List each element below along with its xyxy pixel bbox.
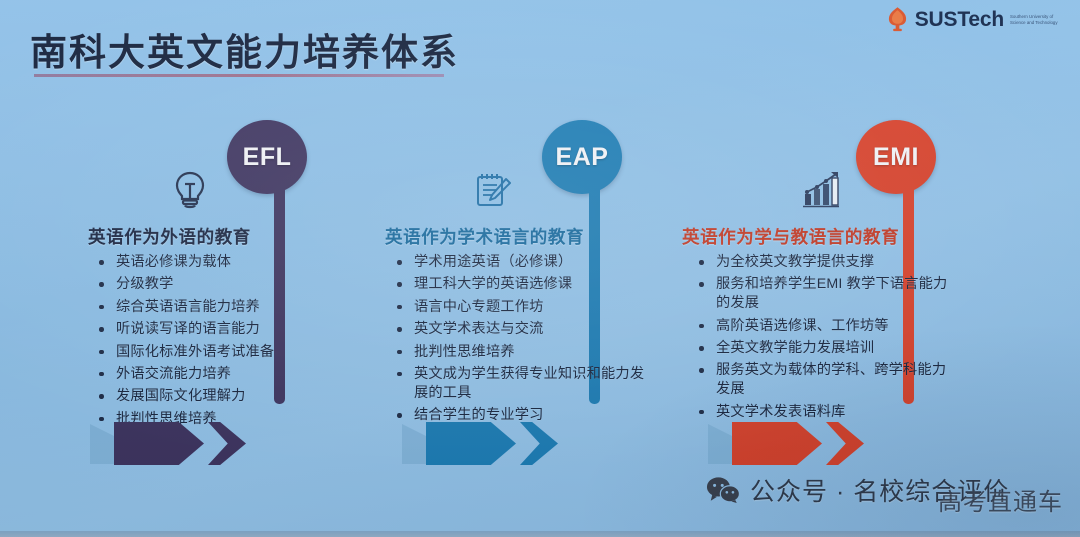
- heading-efl: 英语作为外语的教育: [88, 224, 388, 249]
- arrow-body: [732, 422, 822, 465]
- list-item: 国际化标准外语考试准备: [96, 343, 348, 362]
- arrow-graphic-eap: [402, 416, 592, 470]
- heading-eap: 英语作为学术语言的教育: [385, 224, 685, 249]
- bar-chart-growth-icon: [798, 168, 842, 212]
- list-item: 理工科大学的英语选修课: [394, 275, 646, 294]
- arrow-graphic-efl: [90, 416, 280, 470]
- sustech-subtext: Southern University of Science and Techn…: [1010, 14, 1068, 26]
- arrow-graphic-emi: [708, 416, 898, 470]
- title-underline: [34, 74, 444, 77]
- badge-efl: EFL: [227, 120, 307, 194]
- list-item: 发展国际文化理解力: [96, 387, 348, 406]
- badge-emi: EMI: [856, 120, 936, 194]
- lightbulb-icon: [168, 168, 212, 212]
- list-item: 高阶英语选修课、工作坊等: [696, 317, 948, 336]
- list-item: 综合英语语言能力培养: [96, 298, 348, 317]
- arrow-body: [114, 422, 204, 465]
- list-item: 为全校英文教学提供支撑: [696, 253, 948, 272]
- arrow-chevron: [826, 422, 864, 465]
- page-title: 南科大英文能力培养体系: [30, 22, 459, 76]
- list-item: 服务英文为载体的学科、跨学科能力发展: [696, 361, 948, 399]
- bullet-list-efl: 英语必修课为载体 分级教学 综合英语语言能力培养 听说读写译的语言能力 国际化标…: [96, 253, 348, 432]
- heading-emi: 英语作为学与教语言的教育: [682, 224, 982, 249]
- bullet-list-eap: 学术用途英语（必修课） 理工科大学的英语选修课 语言中心专题工作坊 英文学术表达…: [394, 253, 646, 429]
- arrow-chevron: [208, 422, 246, 465]
- list-item: 学术用途英语（必修课）: [394, 253, 646, 272]
- list-item: 英文成为学生获得专业知识和能力发展的工具: [394, 365, 646, 403]
- watermark-text: 高考直通车: [938, 482, 1063, 517]
- list-item: 服务和培养学生EMI 教学下语言能力的发展: [696, 275, 948, 313]
- list-item: 英语必修课为载体: [96, 253, 348, 272]
- bullet-list-emi: 为全校英文教学提供支撑 服务和培养学生EMI 教学下语言能力的发展 高阶英语选修…: [696, 253, 948, 425]
- sustech-flame-icon: [885, 6, 910, 33]
- arrow-chevron: [520, 422, 558, 465]
- sustech-logo: SUSTech Southern University of Science a…: [885, 6, 1068, 33]
- badge-eap: EAP: [542, 120, 622, 194]
- notepad-pencil-icon: [470, 168, 514, 212]
- sustech-wordmark-tail: ech: [968, 8, 1004, 31]
- slide-canvas: 南科大英文能力培养体系 SUSTech Southern University …: [0, 0, 1080, 537]
- sustech-wordmark: SUSTech: [915, 9, 1004, 30]
- list-item: 外语交流能力培养: [96, 365, 348, 384]
- list-item: 批判性思维培养: [394, 343, 646, 362]
- wechat-icon: [706, 477, 740, 503]
- list-item: 英文学术表达与交流: [394, 320, 646, 339]
- list-item: 分级教学: [96, 275, 348, 294]
- sustech-wordmark-main: SUST: [915, 8, 969, 31]
- list-item: 语言中心专题工作坊: [394, 298, 646, 317]
- arrow-body: [426, 422, 516, 465]
- list-item: 听说读写译的语言能力: [96, 320, 348, 339]
- bottom-edge: [0, 531, 1080, 537]
- list-item: 全英文教学能力发展培训: [696, 339, 948, 358]
